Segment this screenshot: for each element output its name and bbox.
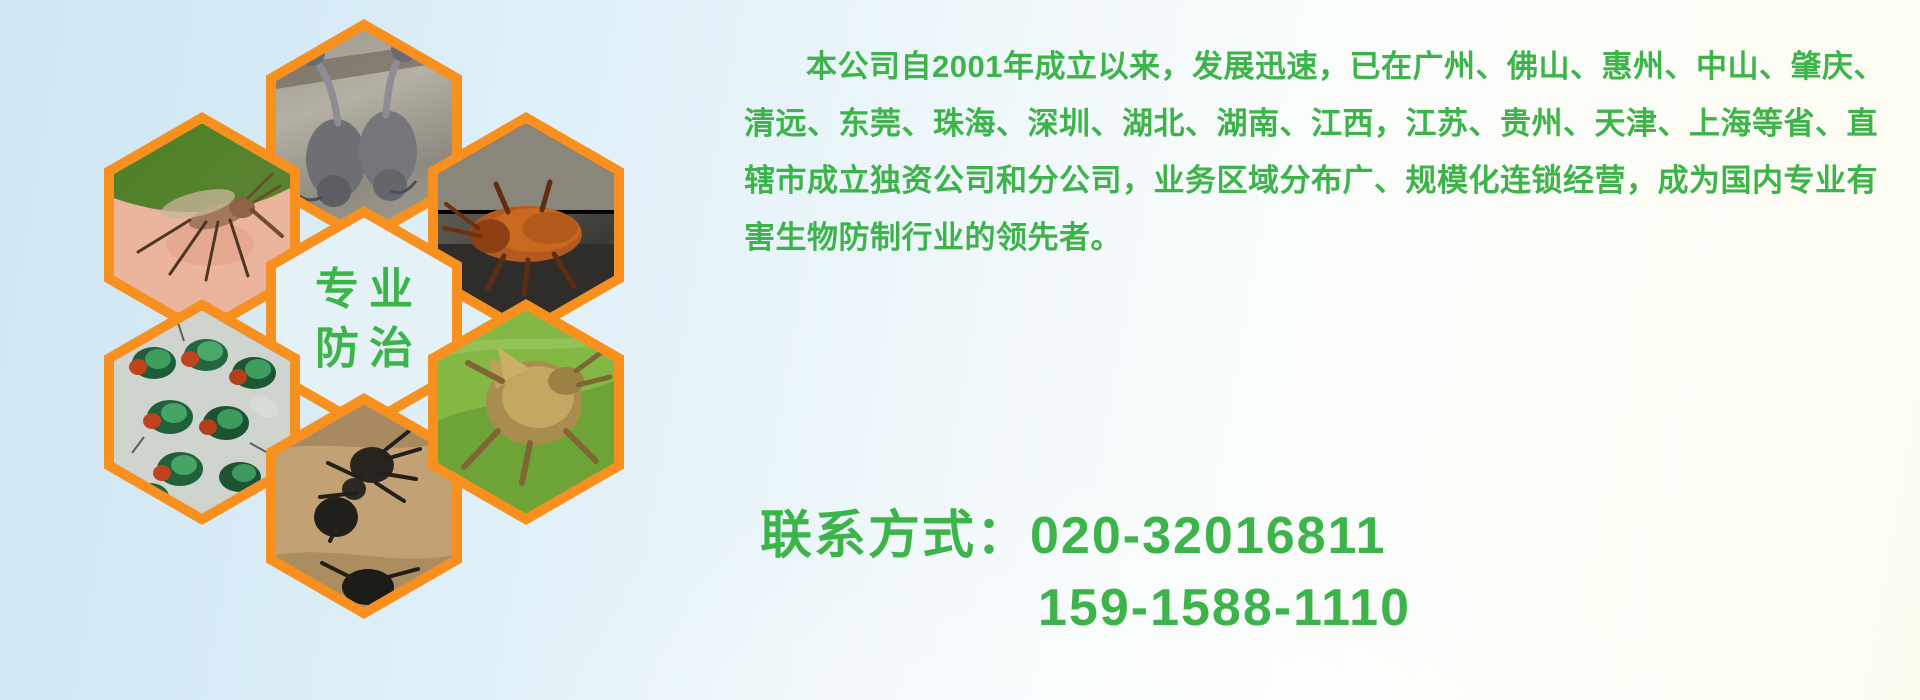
hex-cell-cockroach-frame xyxy=(438,124,614,327)
honeycomb-image-cluster: 专业 防治 xyxy=(88,0,628,594)
stinkbug-photo-icon xyxy=(438,311,614,514)
flies-photo-icon xyxy=(114,311,290,514)
company-intro-paragraph: 本公司自2001年成立以来，发展迅速，已在广州、佛山、惠州、中山、肇庆、清远、东… xyxy=(744,38,1894,266)
pest-control-banner: 专业 防治 xyxy=(0,0,1920,700)
hex-cell-stinkbug-frame xyxy=(438,311,614,514)
mosquito-illustration xyxy=(114,124,290,327)
contact-phone-secondary[interactable]: 159-1588-1110 xyxy=(760,572,1411,644)
cockroach-photo-icon xyxy=(438,124,614,327)
ant-photo-icon xyxy=(276,405,452,608)
cockroach-illustration xyxy=(438,124,614,327)
hex-cell-center-frame: 专业 防治 xyxy=(276,218,452,421)
mosquito-photo-icon xyxy=(114,124,290,327)
contact-block: 联系方式：020-32016811 159-1588-1110 xyxy=(760,500,1411,644)
center-label-line-1: 专业 xyxy=(305,260,423,319)
center-label-line-2: 防治 xyxy=(305,319,423,378)
stinkbug-illustration xyxy=(438,311,614,514)
flies-illustration xyxy=(114,311,290,514)
ant-illustration xyxy=(276,405,452,608)
rats-photo-icon xyxy=(276,31,452,234)
hex-cell-flies-frame xyxy=(114,311,290,514)
hex-cell-ant-frame xyxy=(276,405,452,608)
contact-phone-primary[interactable]: 联系方式：020-32016811 xyxy=(760,500,1411,572)
hex-cell-rats-frame xyxy=(276,31,452,234)
rats-illustration xyxy=(276,31,452,234)
company-intro-block: 本公司自2001年成立以来，发展迅速，已在广州、佛山、惠州、中山、肇庆、清远、东… xyxy=(744,38,1894,266)
hex-cell-mosquito-frame xyxy=(114,124,290,327)
